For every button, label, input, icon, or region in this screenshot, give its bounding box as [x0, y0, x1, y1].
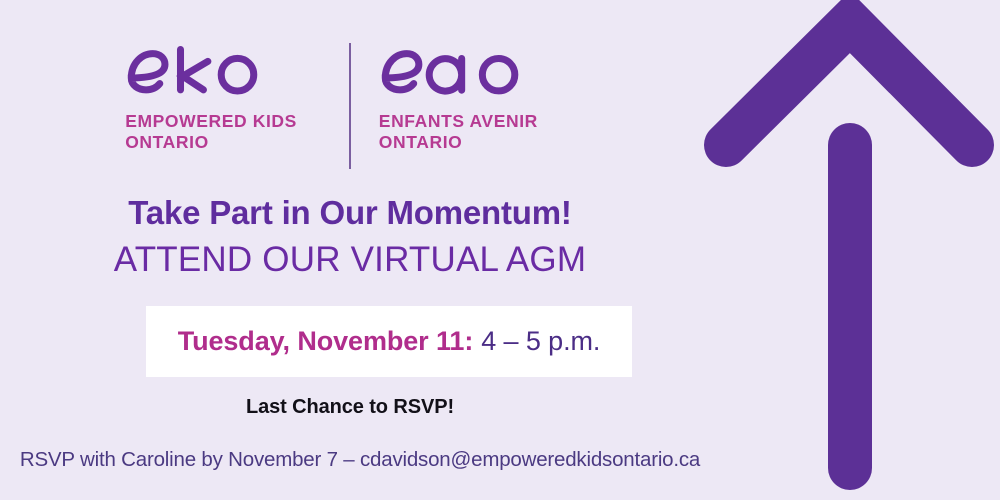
up-arrow-icon	[690, 0, 1000, 500]
rsvp-instruction-text: RSVP with Caroline by November 7 – cdavi…	[0, 448, 720, 472]
logo-divider	[349, 43, 351, 169]
headline-secondary: ATTEND OUR VIRTUAL AGM	[0, 240, 700, 280]
logo-enfants-avenir-ontario: ENFANTS AVENIR ONTARIO	[379, 40, 575, 153]
agm-promo-banner: EMPOWERED KIDS ONTARIO ENFANTS AVENIR ON…	[0, 0, 1000, 500]
logo-tagline-fr: ENFANTS AVENIR ONTARIO	[379, 111, 538, 153]
logo-lockup: EMPOWERED KIDS ONTARIO ENFANTS AVENIR ON…	[0, 40, 700, 175]
logo-empowered-kids-ontario: EMPOWERED KIDS ONTARIO	[125, 40, 321, 153]
urgency-text: Last Chance to RSVP!	[0, 396, 700, 419]
logo-tagline-en: EMPOWERED KIDS ONTARIO	[125, 111, 297, 153]
event-datetime-bar: Tuesday, November 11: 4 – 5 p.m.	[146, 306, 632, 377]
eao-wordmark-icon	[379, 40, 534, 102]
headline-primary: Take Part in Our Momentum!	[0, 194, 700, 232]
event-time-label: 4 – 5 p.m.	[481, 326, 600, 357]
eko-wordmark-icon	[125, 40, 273, 102]
event-date-label: Tuesday, November 11:	[178, 326, 474, 357]
